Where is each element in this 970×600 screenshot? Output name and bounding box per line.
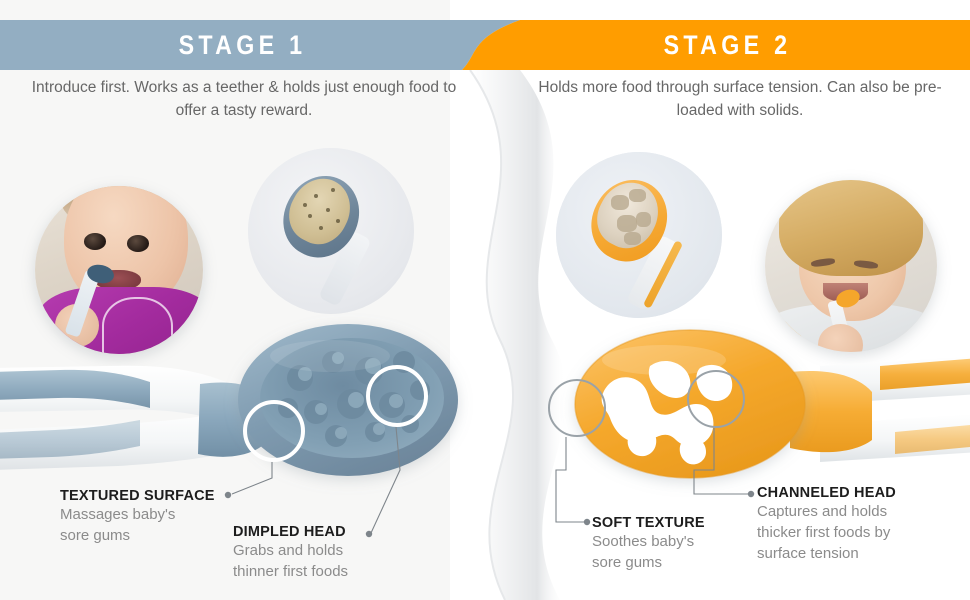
annotation-body: Grabs and holds thinner first foods [233,540,348,582]
annotation-channeled-head: CHANNELED HEAD Captures and holds thicke… [757,485,896,564]
annotation-textured-surface: TEXTURED SURFACE Massages baby's sore gu… [60,488,215,546]
callout-ring-textured-surface [243,400,305,462]
annotation-title: TEXTURED SURFACE [60,488,215,504]
photo-orange-spoon-with-chunky-food [556,152,722,318]
annotation-body-line: thinner first foods [233,561,348,582]
annotation-body-line: sore gums [60,525,215,546]
annotation-soft-texture: SOFT TEXTURE Soothes baby's sore gums [592,515,705,573]
annotation-body-line: Massages baby's [60,504,215,525]
photo-toddler-eating-orange-spoon [765,180,937,352]
annotation-body-line: thicker first foods by [757,522,896,543]
annotation-body: Massages baby's sore gums [60,504,215,546]
stage-1-subtitle: Introduce first. Works as a teether & ho… [20,76,468,122]
stage-2-subtitle: Holds more food through surface tension.… [520,76,960,122]
annotation-title: DIMPLED HEAD [233,524,348,540]
annotation-body-line: sore gums [592,552,705,573]
callout-ring-soft-texture [548,379,606,437]
annotation-body-line: Grabs and holds [233,540,348,561]
stage-1-title: STAGE 1 [34,20,451,70]
stage-2-title: STAGE 2 [519,20,936,70]
callout-ring-dimpled-head [366,365,428,427]
annotation-title: CHANNELED HEAD [757,485,896,501]
annotation-body-line: Soothes baby's [592,531,705,552]
infographic-page: STAGE 1 STAGE 2 Introduce first. Works a… [0,0,970,600]
annotation-dimpled-head: DIMPLED HEAD Grabs and holds thinner fir… [233,524,348,582]
photo-baby-eating-blue-spoon [35,186,203,354]
photo-blue-spoon-with-puree [248,148,414,314]
annotation-body: Soothes baby's sore gums [592,531,705,573]
callout-ring-channeled-head [687,370,745,428]
annotation-body-line: Captures and holds [757,501,896,522]
annotation-body: Captures and holds thicker first foods b… [757,501,896,564]
annotation-title: SOFT TEXTURE [592,515,705,531]
annotation-body-line: surface tension [757,543,896,564]
